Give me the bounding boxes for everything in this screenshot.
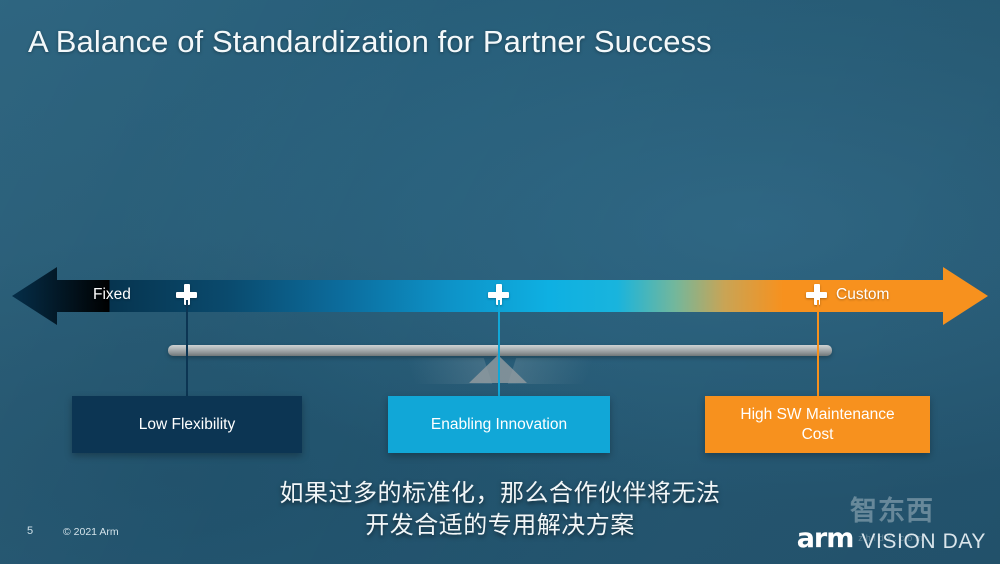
callout-line-2: Cost bbox=[802, 426, 834, 443]
connector-line-balanced bbox=[498, 300, 500, 396]
callout-label-low-flexibility: Low Flexibility bbox=[139, 415, 235, 434]
vision-day-logo: VISION DAY bbox=[861, 531, 986, 552]
subtitle-line-1: 如果过多的标准化，那么合作伙伴将无法 bbox=[0, 478, 1000, 510]
copyright-notice: © 2021 Arm bbox=[63, 526, 119, 538]
slide-canvas: A Balance of Standardization for Partner… bbox=[0, 0, 1000, 564]
callout-label-high-sw-maintenance-cost: High SW Maintenance Cost bbox=[740, 405, 894, 444]
arrow-label-fixed: Fixed bbox=[93, 286, 131, 304]
callout-line-1: High SW Maintenance bbox=[740, 406, 894, 423]
brand-lockup: arm VISION DAY bbox=[797, 507, 986, 552]
arm-logo: arm bbox=[797, 525, 854, 552]
callout-label-enabling-innovation: Enabling Innovation bbox=[431, 415, 567, 434]
connector-line-custom bbox=[817, 300, 819, 396]
callout-high-sw-maintenance-cost[interactable]: High SW Maintenance Cost bbox=[705, 396, 930, 453]
arrow-label-custom: Custom bbox=[836, 286, 889, 304]
callout-enabling-innovation[interactable]: Enabling Innovation bbox=[388, 396, 610, 453]
callout-low-flexibility[interactable]: Low Flexibility bbox=[72, 396, 302, 453]
connector-line-fixed bbox=[186, 300, 188, 396]
page-number: 5 bbox=[27, 525, 33, 537]
page-title: A Balance of Standardization for Partner… bbox=[28, 24, 712, 60]
